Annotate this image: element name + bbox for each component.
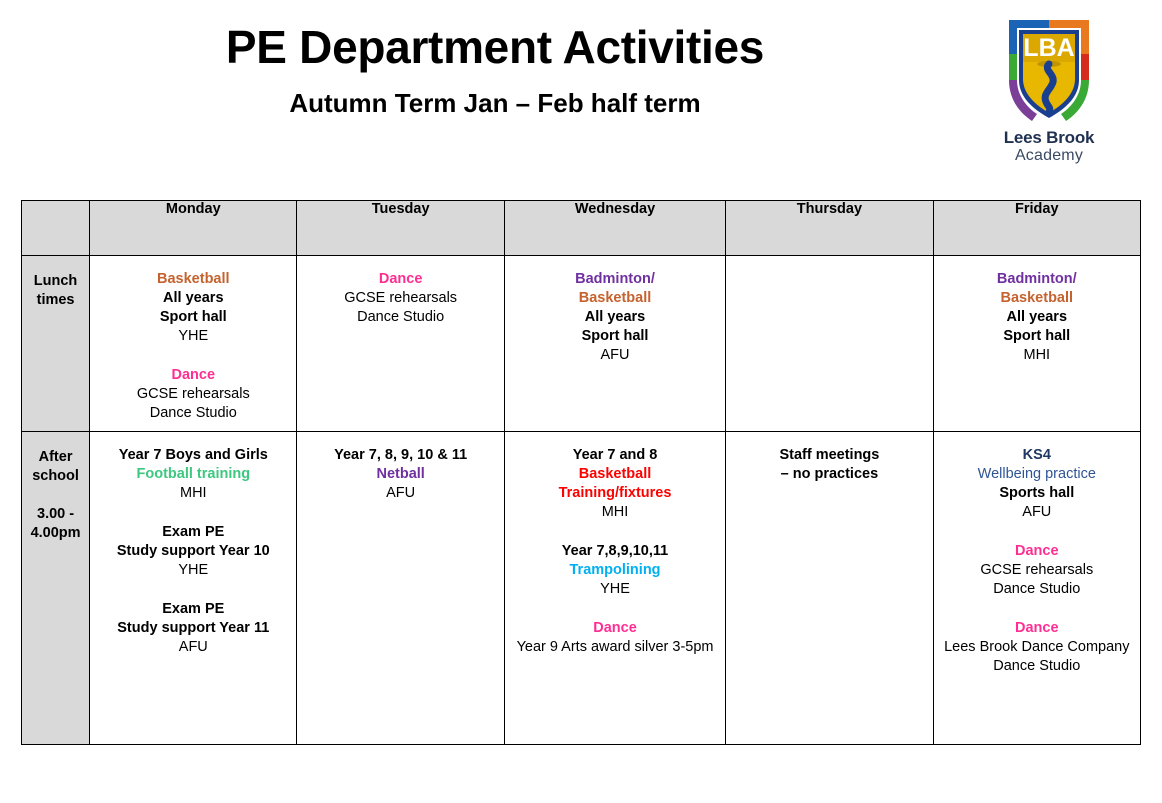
activity-line: Exam PE: [94, 600, 292, 619]
activity-line: MHI: [94, 484, 292, 503]
activity-line: YHE: [94, 561, 292, 580]
activity-block: DanceGCSE rehearsalsDance Studio: [94, 366, 292, 423]
activity-block: Staff meetings– no practices: [730, 446, 928, 484]
activity-block: Year 7, 8, 9, 10 & 11NetballAFU: [301, 446, 499, 503]
activity-line: Basketball: [509, 289, 721, 308]
activity-line: Wellbeing practice: [938, 465, 1136, 484]
activity-line: Basketball: [509, 465, 721, 484]
cell-lunch-friday: Badminton/BasketballAll yearsSport hallM…: [933, 256, 1140, 432]
activity-block: DanceGCSE rehearsalsDance Studio: [938, 542, 1136, 599]
activity-line: Dance: [509, 619, 721, 638]
activity-line: Football training: [94, 465, 292, 484]
activity-line: Year 7,8,9,10,11: [509, 542, 721, 561]
activity-line: Study support Year 10: [94, 542, 292, 561]
activity-line: Badminton/: [938, 270, 1136, 289]
activity-block: Year 7 and 8BasketballTraining/fixturesM…: [509, 446, 721, 522]
activity-line: Dance: [94, 366, 292, 385]
table-row-lunch-times: Lunch times BasketballAll yearsSport hal…: [22, 256, 1141, 432]
cell-lunch-tuesday: DanceGCSE rehearsalsDance Studio: [297, 256, 504, 432]
column-header-thursday: Thursday: [726, 201, 933, 256]
activity-line: Dance: [938, 542, 1136, 561]
activity-line: Dance: [938, 619, 1136, 638]
table-row-after-school: After school 3.00 - 4.00pm Year 7 Boys a…: [22, 431, 1141, 744]
column-header-friday: Friday: [933, 201, 1140, 256]
activity-line: Sport hall: [938, 327, 1136, 346]
activity-block: Year 7,8,9,10,11TrampoliningYHE: [509, 542, 721, 599]
activity-block: DanceGCSE rehearsalsDance Studio: [301, 270, 499, 327]
activity-line: Sports hall: [938, 484, 1136, 503]
activity-line: Trampolining: [509, 561, 721, 580]
page-header: PE Department Activities Autumn Term Jan…: [0, 0, 1162, 190]
activity-block: Exam PEStudy support Year 11AFU: [94, 600, 292, 657]
activity-line: All years: [509, 308, 721, 327]
activity-block: Badminton/BasketballAll yearsSport hallA…: [509, 270, 721, 365]
cell-after-friday: KS4Wellbeing practiceSports hallAFUDance…: [933, 431, 1140, 744]
activity-line: All years: [938, 308, 1136, 327]
activity-block: Badminton/BasketballAll yearsSport hallM…: [938, 270, 1136, 365]
activity-line: AFU: [94, 638, 292, 657]
logo-monogram: LBA: [1023, 34, 1074, 62]
activities-timetable: Monday Tuesday Wednesday Thursday Friday…: [21, 200, 1141, 745]
activity-line: Badminton/: [509, 270, 721, 289]
cell-lunch-monday: BasketballAll yearsSport hallYHEDanceGCS…: [90, 256, 297, 432]
activity-line: – no practices: [730, 465, 928, 484]
lba-shield-icon: LBA: [997, 14, 1101, 124]
logo-school-name: Lees Brook: [990, 128, 1108, 147]
table-header-row: Monday Tuesday Wednesday Thursday Friday: [22, 201, 1141, 256]
cell-after-wednesday: Year 7 and 8BasketballTraining/fixturesM…: [504, 431, 725, 744]
activity-line: Training/fixtures: [509, 484, 721, 503]
activity-line: AFU: [509, 346, 721, 365]
activity-line: Dance Studio: [938, 657, 1136, 676]
activity-line: AFU: [301, 484, 499, 503]
cell-after-thursday: Staff meetings– no practices: [726, 431, 933, 744]
activity-line: Sport hall: [509, 327, 721, 346]
activity-line: Dance: [301, 270, 499, 289]
activity-line: MHI: [509, 503, 721, 522]
row-label-lunch-times: Lunch times: [22, 256, 90, 432]
cell-after-tuesday: Year 7, 8, 9, 10 & 11NetballAFU: [297, 431, 504, 744]
table-corner-cell: [22, 201, 90, 256]
activity-block: BasketballAll yearsSport hallYHE: [94, 270, 292, 346]
column-header-wednesday: Wednesday: [504, 201, 725, 256]
activity-line: Basketball: [938, 289, 1136, 308]
column-header-tuesday: Tuesday: [297, 201, 504, 256]
activity-line: YHE: [94, 327, 292, 346]
cell-lunch-thursday: [726, 256, 933, 432]
activity-line: Year 7 and 8: [509, 446, 721, 465]
column-header-monday: Monday: [90, 201, 297, 256]
page-title: PE Department Activities: [0, 22, 990, 74]
activity-line: Year 7 Boys and Girls: [94, 446, 292, 465]
activity-line: GCSE rehearsals: [94, 385, 292, 404]
activity-line: Sport hall: [94, 308, 292, 327]
cell-after-monday: Year 7 Boys and GirlsFootball trainingMH…: [90, 431, 297, 744]
activity-line: GCSE rehearsals: [938, 561, 1136, 580]
activity-line: Lees Brook Dance Company: [938, 638, 1136, 657]
activity-block: DanceYear 9 Arts award silver 3-5pm: [509, 619, 721, 657]
activity-line: Netball: [301, 465, 499, 484]
activity-block: KS4Wellbeing practiceSports hallAFU: [938, 446, 1136, 522]
cell-lunch-wednesday: Badminton/BasketballAll yearsSport hallA…: [504, 256, 725, 432]
activity-line: Dance Studio: [94, 404, 292, 423]
activity-block: Year 7 Boys and GirlsFootball trainingMH…: [94, 446, 292, 503]
activity-line: Dance Studio: [301, 308, 499, 327]
activity-line: MHI: [938, 346, 1136, 365]
activity-line: Basketball: [94, 270, 292, 289]
activity-line: Study support Year 11: [94, 619, 292, 638]
row-label-after-school: After school 3.00 - 4.00pm: [22, 431, 90, 744]
activity-line: AFU: [938, 503, 1136, 522]
activity-line: Year 9 Arts award silver 3-5pm: [509, 638, 721, 657]
activity-line: Staff meetings: [730, 446, 928, 465]
activity-line: Year 7, 8, 9, 10 & 11: [301, 446, 499, 465]
logo-school-subname: Academy: [990, 147, 1108, 165]
activity-line: YHE: [509, 580, 721, 599]
school-logo: LBA Lees Brook Academy: [990, 14, 1108, 174]
activity-line: GCSE rehearsals: [301, 289, 499, 308]
activity-line: Dance Studio: [938, 580, 1136, 599]
page-subtitle: Autumn Term Jan – Feb half term: [0, 88, 990, 119]
activity-line: All years: [94, 289, 292, 308]
title-block: PE Department Activities Autumn Term Jan…: [0, 22, 990, 119]
activity-line: Exam PE: [94, 523, 292, 542]
activity-block: DanceLees Brook Dance CompanyDance Studi…: [938, 619, 1136, 676]
activity-line: KS4: [938, 446, 1136, 465]
activity-block: Exam PEStudy support Year 10YHE: [94, 523, 292, 580]
